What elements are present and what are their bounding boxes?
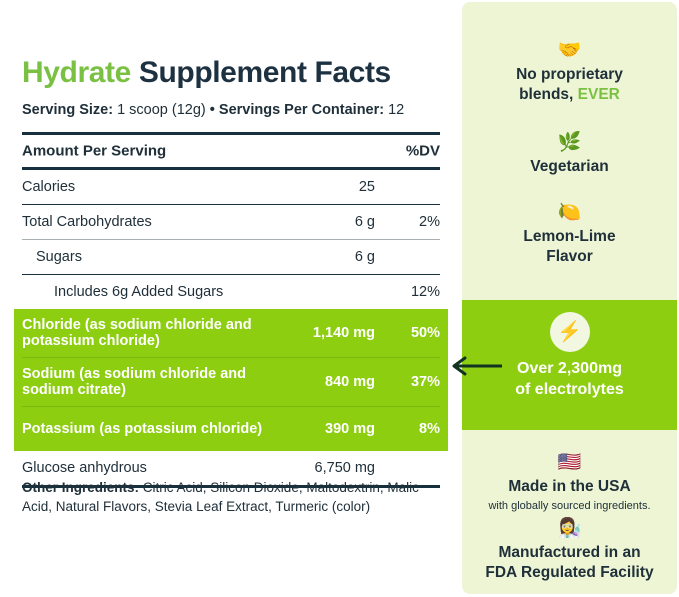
benefit-text: Manufactured in an FDA Regulated Facilit… [462,543,677,583]
row-dv: 8% [419,421,440,437]
column-header-amount: Amount Per Serving [22,143,166,160]
benefit-line-2: FDA Regulated Facility [485,564,653,581]
benefit-line-1: No proprietary [516,66,623,83]
row-amount: 6 g [355,214,375,230]
serving-separator: • [210,102,219,118]
row-amount: 1,140 mg [313,325,375,341]
other-ingredients-label: Other Ingredients: [22,480,139,495]
benefit-text: Lemon-Lime Flavor [462,227,677,267]
benefit-line-1: Made in the USA [508,478,630,495]
row-dv: 37% [411,374,440,390]
serving-size-value: 1 scoop (12g) [113,102,210,118]
row-dv: 2% [419,214,440,230]
lab-scientist-icon: 👩‍🔬 [462,518,677,540]
benefit-line-1: Manufactured in an [498,544,640,561]
callout-line-1: Over 2,300mg [517,360,622,377]
row-name: Total Carbohydrates [22,214,152,230]
benefit-text: No proprietary blends, EVER [462,65,677,105]
benefit-emphasis: EVER [578,86,620,103]
row-dv: 12% [411,284,440,300]
row-name: Calories [22,179,75,195]
table-row: Total Carbohydrates 6 g 2% [22,205,440,239]
benefit-text: Made in the USA [462,477,677,497]
benefit-line-1: Vegetarian [530,158,608,175]
table-row: Includes 6g Added Sugars 12% [22,275,440,309]
servings-per-container-label: Servings Per Container: [219,102,384,118]
table-row: Sodium (as sodium chloride and sodium ci… [14,358,448,406]
column-header-dv: %DV [406,143,440,160]
row-name: Sugars [36,249,82,265]
table-header-row: Amount Per Serving %DV [22,135,440,167]
electrolytes-highlight-block: Chloride (as sodium chloride and potassi… [14,309,448,451]
benefit-lemon-lime-flavor: 🍋 Lemon-Lime Flavor [462,202,677,267]
nutrition-table: Amount Per Serving %DV Calories 25 Total… [22,132,440,488]
table-row: Calories 25 [22,170,440,204]
brand-name: Hydrate [22,56,131,89]
row-amount: 6 g [355,249,375,265]
row-amount: 840 mg [325,374,375,390]
row-amount: 25 [359,179,375,195]
serving-info: Serving Size: 1 scoop (12g) • Servings P… [22,102,404,118]
benefit-no-proprietary-blends: 🤝 No proprietary blends, EVER [462,40,677,105]
lightning-bolt-icon: ⚡ [557,322,582,342]
row-name: Includes 6g Added Sugars [54,284,223,300]
row-name: Chloride (as sodium chloride and potassi… [22,317,292,349]
benefit-text: Vegetarian [462,157,677,177]
benefit-line-2: blends, [519,86,578,103]
benefit-made-in-usa: 🇺🇸 Made in the USA with globally sourced… [462,452,677,513]
row-name: Glucose anhydrous [22,460,147,476]
serving-size-label: Serving Size: [22,102,113,118]
row-name: Sodium (as sodium chloride and sodium ci… [22,366,292,398]
herb-leaf-icon: 🌿 [462,132,677,154]
benefits-sidebar: 🤝 No proprietary blends, EVER 🌿 Vegetari… [462,2,677,594]
benefit-fda-regulated-facility: 👩‍🔬 Manufactured in an FDA Regulated Fac… [462,518,677,583]
row-name: Potassium (as potassium chloride) [22,421,292,437]
table-row: Chloride (as sodium chloride and potassi… [14,309,448,357]
other-ingredients: Other Ingredients: Citric Acid, Silicon … [22,478,434,516]
row-dv: 50% [411,325,440,341]
benefit-line-1: Lemon-Lime [523,228,615,245]
supplement-facts-panel: Hydrate Supplement Facts Serving Size: 1… [0,0,460,597]
page-title: Hydrate Supplement Facts [22,56,391,90]
callout-line-2: of electrolytes [515,381,623,398]
servings-per-container-value: 12 [384,102,404,118]
benefit-subtext: with globally sourced ingredients. [462,499,677,513]
row-amount: 6,750 mg [315,460,375,476]
benefit-line-2: Flavor [546,248,593,265]
table-row: Potassium (as potassium chloride) 390 mg… [14,407,448,451]
pointer-arrow-icon [448,355,504,377]
row-amount: 390 mg [325,421,375,437]
lemon-icon: 🍋 [462,202,677,224]
handshake-icon: 🤝 [462,40,677,62]
benefit-vegetarian: 🌿 Vegetarian [462,132,677,177]
table-row: Sugars 6 g [22,240,440,274]
usa-flag-icon: 🇺🇸 [462,452,677,474]
title-rest: Supplement Facts [131,56,391,89]
lightning-badge: ⚡ [550,312,590,352]
